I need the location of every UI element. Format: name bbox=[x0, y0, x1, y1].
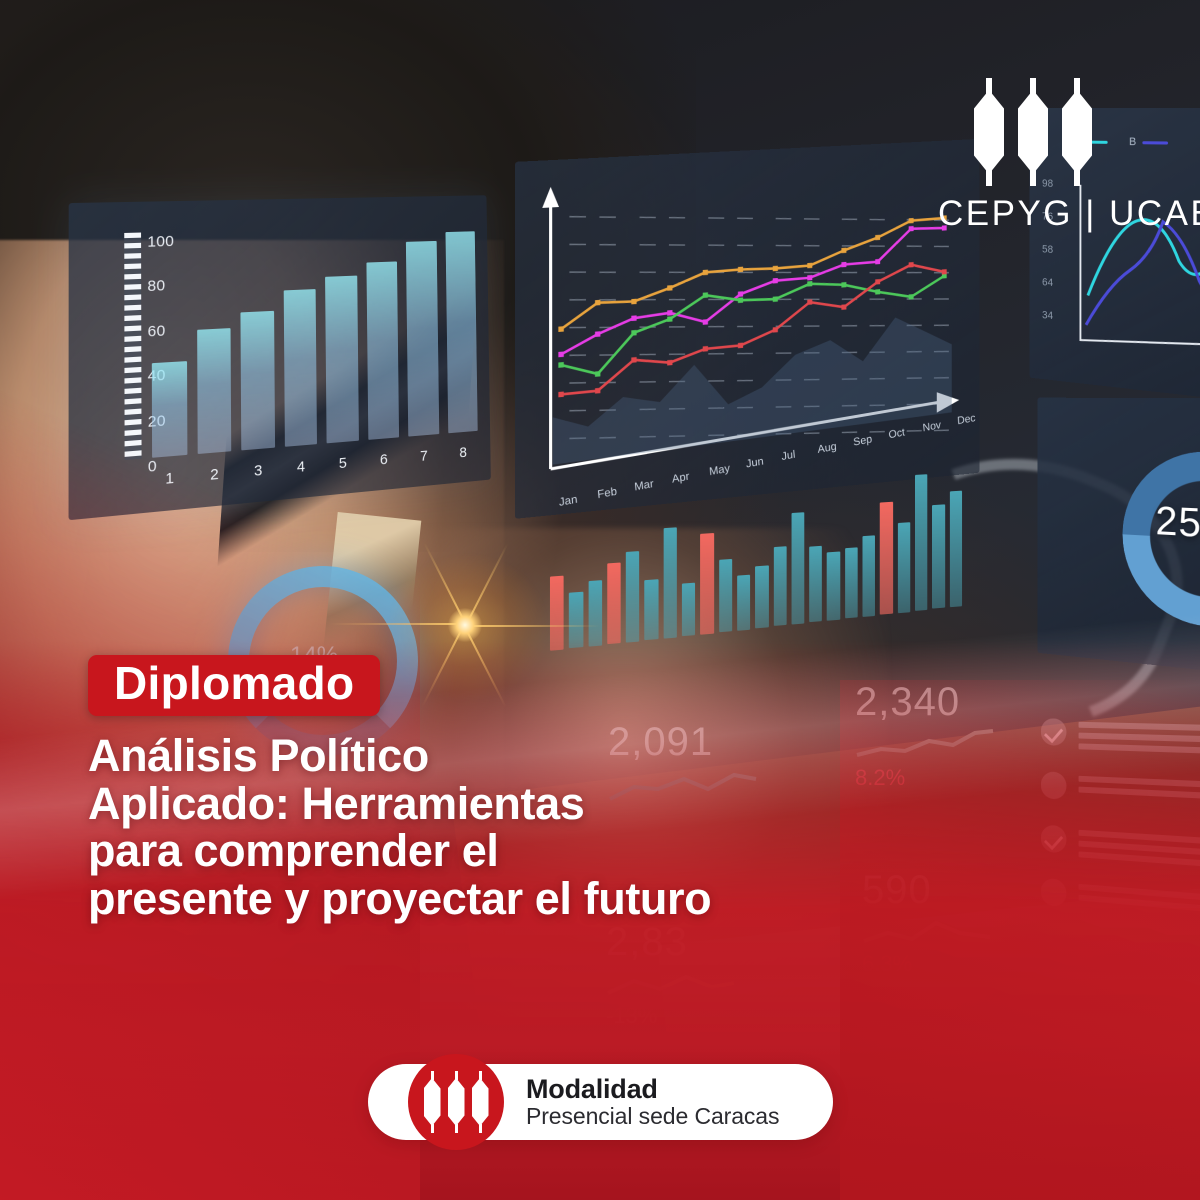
modality-text: Modalidad Presencial sede Caracas bbox=[526, 1074, 779, 1130]
histogram-bar bbox=[845, 547, 858, 619]
histogram-bar bbox=[863, 535, 876, 616]
brand-name: CEPYG | UCAB bbox=[938, 194, 1128, 234]
line-chart-month-tick: Oct bbox=[888, 427, 905, 442]
histogram-bar bbox=[700, 533, 713, 634]
histogram-bar bbox=[719, 559, 732, 632]
bar-chart-x-tick: 8 bbox=[448, 443, 478, 462]
three-diamonds-icon bbox=[938, 78, 1128, 186]
line-chart-month-tick: May bbox=[709, 463, 731, 479]
histogram-bar bbox=[932, 504, 945, 609]
histogram-bar bbox=[949, 490, 961, 607]
line-chart-month-tick: Jun bbox=[745, 456, 764, 471]
histogram-bar bbox=[809, 545, 822, 622]
course-title: Análisis PolíticoAplicado: Herramientasp… bbox=[88, 732, 888, 923]
modality-label: Modalidad bbox=[526, 1074, 779, 1104]
headline-block: Diplomado Análisis PolíticoAplicado: Her… bbox=[88, 655, 888, 923]
modality-value: Presencial sede Caracas bbox=[526, 1104, 779, 1130]
bar-chart-bar bbox=[445, 232, 478, 434]
histogram-bar bbox=[915, 474, 928, 611]
line-series-orange bbox=[561, 218, 944, 329]
histogram-bar bbox=[663, 527, 677, 638]
promo-graphic: 020406080100 12345678 JanFebMarAprMayJun… bbox=[0, 0, 1200, 1200]
line-chart-month-tick: Jul bbox=[781, 449, 796, 463]
histogram-bar bbox=[682, 583, 695, 636]
histogram-bar bbox=[645, 579, 659, 640]
line-chart-month-tick: Aug bbox=[817, 441, 837, 456]
histogram-bar bbox=[880, 502, 893, 615]
histogram-bar bbox=[626, 551, 640, 643]
modality-badge: Modalidad Presencial sede Caracas bbox=[368, 1064, 833, 1140]
histogram-bar bbox=[791, 512, 804, 624]
course-title-line-1: Análisis Político bbox=[88, 732, 888, 780]
histogram-bar bbox=[737, 575, 750, 630]
line-chart-panel: JanFebMarAprMayJunJulAugSepOctNovDec bbox=[515, 139, 980, 519]
histogram-bar bbox=[607, 563, 621, 645]
histogram-bar bbox=[755, 566, 768, 629]
line-chart-month-tick: Nov bbox=[923, 419, 942, 434]
brand-logo: CEPYG | UCAB bbox=[938, 78, 1128, 234]
course-title-line-4: presente y proyectar el futuro bbox=[88, 875, 888, 923]
line-chart-month-tick: Sep bbox=[853, 433, 873, 448]
line-chart-month-tick: Dec bbox=[957, 412, 976, 427]
donut-chart-value: 25 bbox=[1155, 499, 1200, 547]
histogram-bar bbox=[588, 580, 602, 647]
course-title-line-3: para comprender el bbox=[88, 827, 888, 875]
histogram-bars bbox=[550, 480, 962, 651]
histogram-bar bbox=[773, 546, 786, 626]
course-title-line-2: Aplicado: Herramientas bbox=[88, 780, 888, 828]
badge-diplomado: Diplomado bbox=[88, 655, 380, 716]
three-diamonds-icon bbox=[408, 1054, 504, 1150]
histogram-bar bbox=[827, 551, 840, 620]
histogram-bar bbox=[898, 522, 911, 613]
